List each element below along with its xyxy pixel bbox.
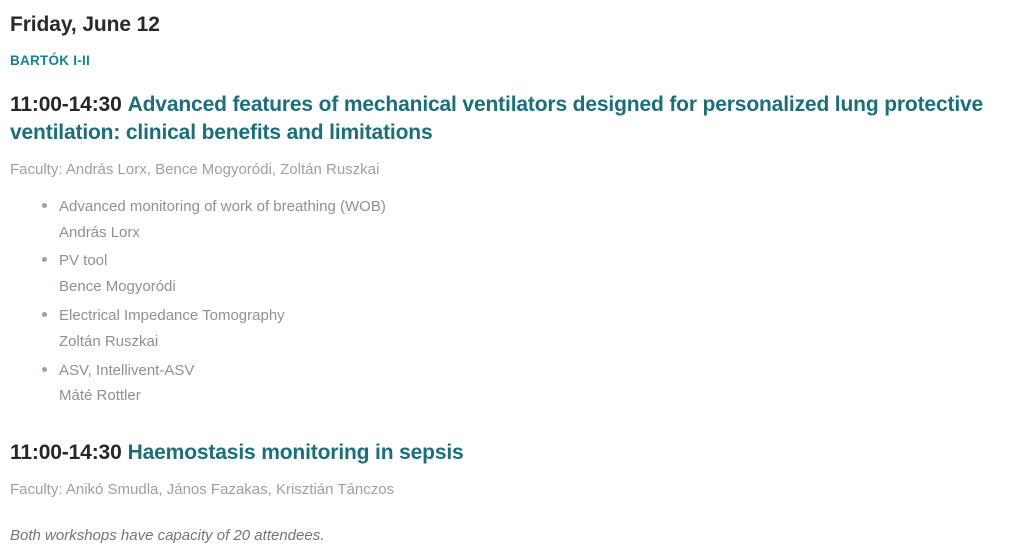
- session-title[interactable]: Haemostasis monitoring in sepsis: [128, 441, 464, 464]
- list-item: Advanced monitoring of work of breathing…: [42, 194, 1025, 246]
- schedule-page: Friday, June 12 BARTÓK I-II 11:00-14:30A…: [0, 0, 1035, 546]
- list-item: PV tool Bence Mogyoródi: [42, 248, 1025, 300]
- room-label: BARTÓK I-II: [10, 53, 1025, 69]
- topic-presenter: Bence Mogyoródi: [59, 274, 1025, 300]
- session-block: 11:00-14:30Haemostasis monitoring in sep…: [10, 439, 1025, 500]
- session-heading: 11:00-14:30Haemostasis monitoring in sep…: [10, 439, 1025, 467]
- session-heading: 11:00-14:30Advanced features of mechanic…: [10, 91, 1025, 146]
- session-block: 11:00-14:30Advanced features of mechanic…: [10, 91, 1025, 409]
- topic-name: PV tool: [59, 248, 1025, 274]
- day-heading: Friday, June 12: [10, 12, 1025, 38]
- topic-presenter: Zoltán Ruszkai: [59, 329, 1025, 355]
- session-title[interactable]: Advanced features of mechanical ventilat…: [10, 93, 983, 144]
- bullet-icon: [42, 203, 47, 208]
- topic-presenter: András Lorx: [59, 220, 1025, 246]
- topic-name: ASV, Intellivent-ASV: [59, 358, 1025, 384]
- topic-presenter: Máté Rottler: [59, 383, 1025, 409]
- topic-name: Electrical Impedance Tomography: [59, 303, 1025, 329]
- session-time: 11:00-14:30: [10, 93, 122, 116]
- session-time: 11:00-14:30: [10, 441, 122, 464]
- list-item: ASV, Intellivent-ASV Máté Rottler: [42, 358, 1025, 410]
- bullet-icon: [42, 257, 47, 262]
- session-topic-list: Advanced monitoring of work of breathing…: [10, 194, 1025, 409]
- session-faculty: Faculty: Anikó Smudla, János Fazakas, Kr…: [10, 479, 1025, 500]
- list-item: Electrical Impedance Tomography Zoltán R…: [42, 303, 1025, 355]
- topic-name: Advanced monitoring of work of breathing…: [59, 194, 1025, 220]
- bullet-icon: [42, 367, 47, 372]
- capacity-note: Both workshops have capacity of 20 atten…: [10, 525, 1025, 546]
- session-faculty: Faculty: András Lorx, Bence Mogyoródi, Z…: [10, 159, 1025, 180]
- bullet-icon: [42, 312, 47, 317]
